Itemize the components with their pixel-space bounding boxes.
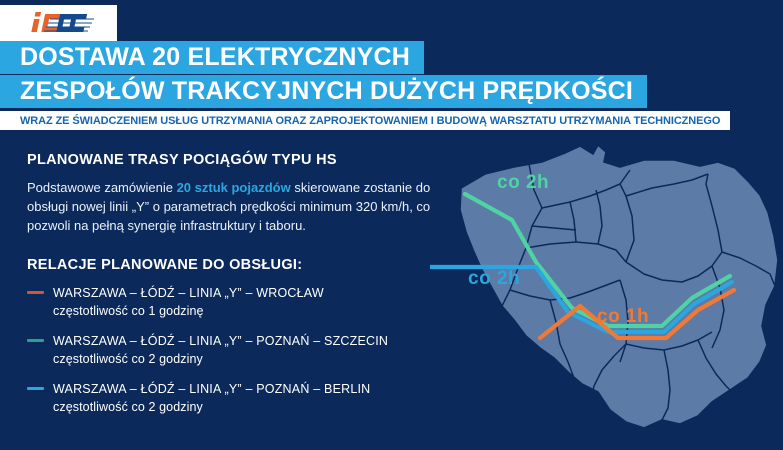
route-color-dash-orange xyxy=(27,291,44,294)
title-line-2: ZESPOŁÓW TRAKCYJNYCH DUŻYCH PRĘDKOŚCI xyxy=(0,75,647,108)
route-name-wroclaw: WARSZAWA – ŁÓDŹ – LINIA „Y” – WROCŁAW xyxy=(53,286,324,300)
main-content: PLANOWANE TRASY POCIĄGÓW TYPU HS Podstaw… xyxy=(27,152,447,428)
route-name-szczecin: WARSZAWA – ŁÓDŹ – LINIA „Y” – POZNAŃ – S… xyxy=(53,334,388,348)
header-subtitle: WRAZ ZE ŚWIADCZENIEM USŁUG UTRZYMANIA OR… xyxy=(0,111,730,130)
route-item-berlin: WARSZAWA – ŁÓDŹ – LINIA „Y” – POZNAŃ – B… xyxy=(27,380,447,416)
route-frequency-wroclaw: częstotliwość co 1 godzinę xyxy=(53,304,204,318)
title-line-1: DOSTAWA 20 ELEKTRYCZNYCH xyxy=(0,41,424,74)
route-frequency-szczecin: częstotliwość co 2 godziny xyxy=(53,352,203,366)
section-heading-planned-routes: PLANOWANE TRASY POCIĄGÓW TYPU HS xyxy=(27,152,447,168)
map-label-szczecin-frequency: co 2h xyxy=(497,172,549,194)
map-label-wroclaw-frequency: co 1h xyxy=(597,306,649,328)
route-color-dash-teal xyxy=(27,339,44,342)
paragraph-part-1: Podstawowe zamówienie xyxy=(27,180,177,195)
paragraph-highlight: 20 sztuk pojazdów xyxy=(177,180,291,195)
pkp-intercity-logo[interactable] xyxy=(0,5,117,41)
map-label-berlin-frequency: co 2h xyxy=(468,268,520,290)
intercity-logo-icon xyxy=(20,10,98,36)
intro-paragraph: Podstawowe zamówienie 20 sztuk pojazdów … xyxy=(27,178,447,235)
poland-map-svg xyxy=(430,140,783,450)
infographic-canvas: co 2h co 2h co 1h DOSTAWA 20 ELEKTRYCZNY… xyxy=(0,0,783,450)
section-heading-relations: RELACJE PLANOWANE DO OBSŁUGI: xyxy=(27,257,447,273)
route-frequency-berlin: częstotliwość co 2 godziny xyxy=(53,400,203,414)
route-item-wroclaw: WARSZAWA – ŁÓDŹ – LINIA „Y” – WROCŁAW cz… xyxy=(27,284,447,320)
route-color-dash-blue xyxy=(27,387,44,390)
poland-map xyxy=(430,140,783,450)
route-name-berlin: WARSZAWA – ŁÓDŹ – LINIA „Y” – POZNAŃ – B… xyxy=(53,382,370,396)
route-item-szczecin: WARSZAWA – ŁÓDŹ – LINIA „Y” – POZNAŃ – S… xyxy=(27,332,447,368)
